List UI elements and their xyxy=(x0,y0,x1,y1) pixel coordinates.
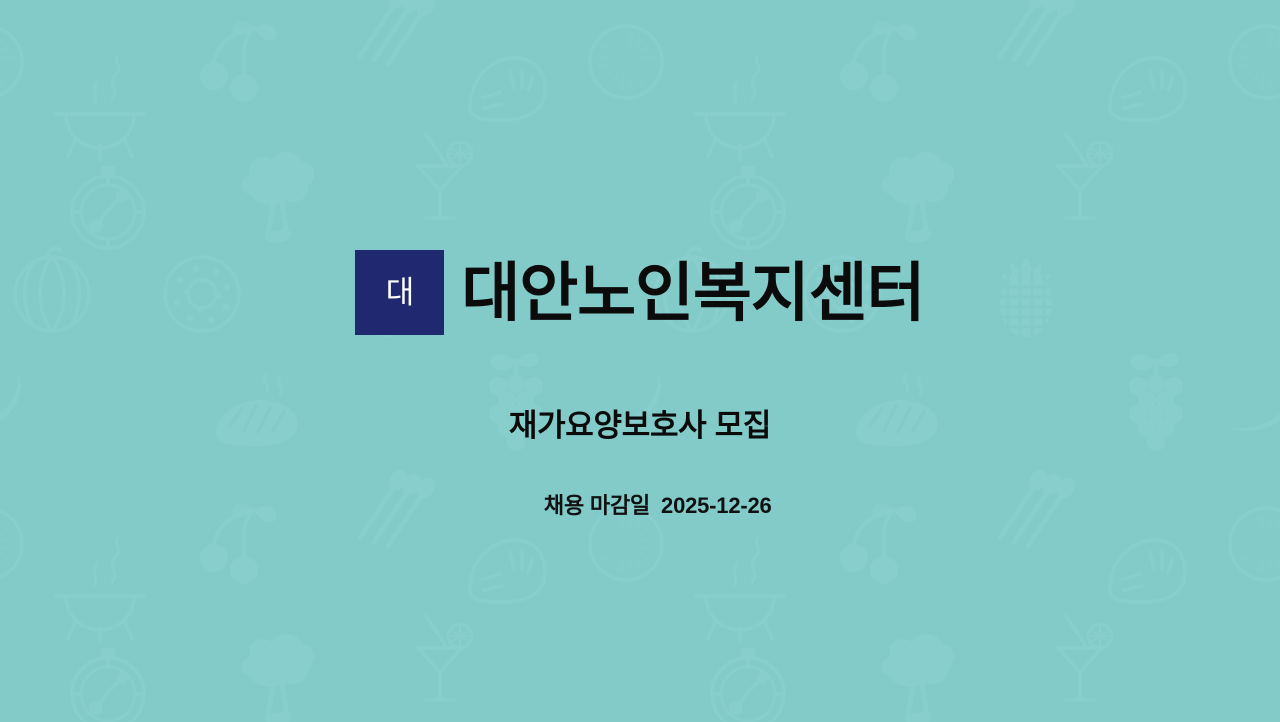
job-title: 재가요양보호사 모집 xyxy=(0,407,1280,446)
poster-content: 대 대안노인복지센터 재가요양보호사 모집 채용 마감일2025-12-26 xyxy=(0,0,1280,722)
company-name: 대안노인복지센터 xyxy=(461,261,924,325)
deadline-label: 채용 마감일 xyxy=(544,493,650,518)
company-header: 대 대안노인복지센터 xyxy=(0,250,1280,335)
company-logo-badge: 대 xyxy=(355,250,444,335)
job-posting-poster: 대 대안노인복지센터 재가요양보호사 모집 채용 마감일2025-12-26 xyxy=(0,0,1280,722)
company-logo-initial: 대 xyxy=(386,277,415,308)
deadline-date: 2025-12-26 xyxy=(661,493,772,518)
application-deadline: 채용 마감일2025-12-26 xyxy=(0,463,1280,549)
